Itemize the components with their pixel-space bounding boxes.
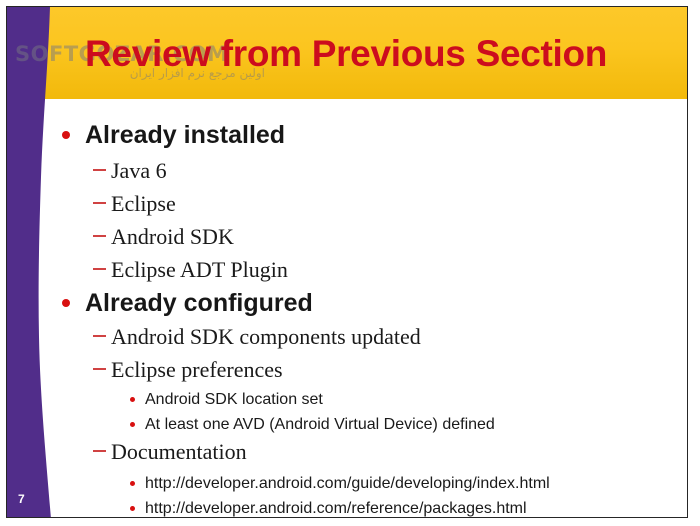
bullet-level2: Eclipse (111, 191, 176, 216)
slide-frame: SOFTGOZAR.COM اولین مرجع نرم افزار ایران… (6, 6, 688, 518)
bullet-dot-icon (130, 506, 135, 511)
slide-number: 7 (18, 492, 25, 506)
bullet-level3-label: http://developer.android.com/guide/devel… (145, 475, 550, 492)
slide-title: Review from Previous Section (85, 33, 685, 75)
bullet-level2: Java 6 (111, 158, 167, 183)
bullet-level1: Already configured (85, 289, 313, 317)
bullet-level2: Eclipse preferences (111, 357, 283, 382)
bullet-dash-icon (93, 368, 106, 370)
bullet-level3: At least one AVD (Android Virtual Device… (145, 415, 495, 434)
bullet-dash-icon (93, 235, 106, 237)
bullet-level3-label: Android SDK location set (145, 391, 323, 408)
bullet-dash-icon (93, 450, 106, 452)
bullet-level2-label: Eclipse ADT Plugin (111, 257, 288, 282)
bullet-level2: Android SDK (111, 224, 234, 249)
bullet-level2: Documentation (111, 439, 247, 464)
slide-content: Already installed Java 6 Eclipse Android… (7, 99, 688, 518)
bullet-level1-label: Already configured (85, 289, 313, 317)
bullet-level2-label: Java 6 (111, 158, 167, 183)
bullet-dash-icon (93, 169, 106, 171)
bullet-level2: Eclipse ADT Plugin (111, 257, 288, 282)
bullet-dot-icon (130, 481, 135, 486)
bullet-dash-icon (93, 202, 106, 204)
bullet-level2-label: Eclipse preferences (111, 357, 283, 382)
bullet-dot-icon (130, 422, 135, 427)
bullet-level3-label: At least one AVD (Android Virtual Device… (145, 416, 495, 433)
bullet-level3: Android SDK location set (145, 390, 323, 409)
bullet-level2-label: Android SDK components updated (111, 324, 421, 349)
bullet-level2-label: Android SDK (111, 224, 234, 249)
bullet-level2-label: Documentation (111, 439, 247, 464)
bullet-dot-icon (62, 299, 70, 307)
bullet-dot-icon (62, 131, 70, 139)
bullet-level1: Already installed (85, 121, 285, 149)
bullet-level3-link[interactable]: http://developer.android.com/guide/devel… (145, 474, 550, 493)
bullet-level1-label: Already installed (85, 121, 285, 149)
bullet-dot-icon (130, 397, 135, 402)
bullet-level2: Android SDK components updated (111, 324, 421, 349)
bullet-dash-icon (93, 335, 106, 337)
bullet-level2-label: Eclipse (111, 191, 176, 216)
bullet-dash-icon (93, 268, 106, 270)
bullet-level3-label: http://developer.android.com/reference/p… (145, 500, 527, 517)
bullet-level3-link[interactable]: http://developer.android.com/reference/p… (145, 499, 527, 518)
